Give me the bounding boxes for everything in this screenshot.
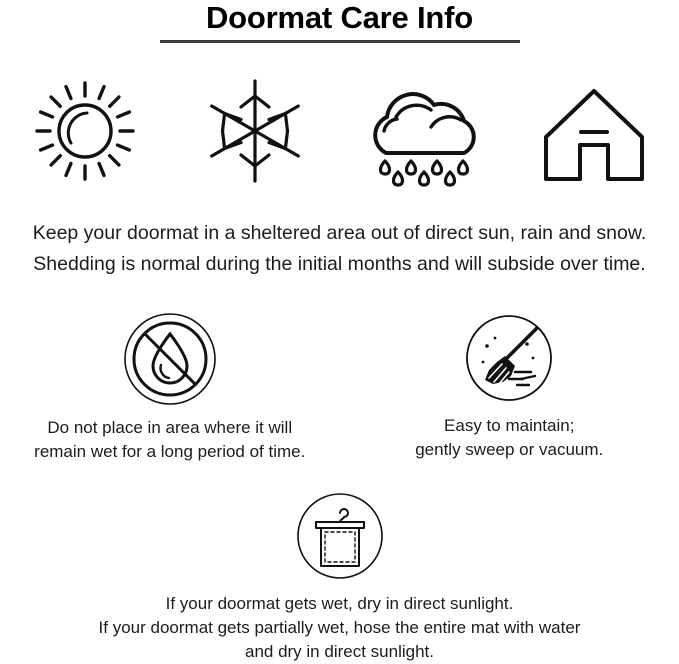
weather-icon-row	[0, 72, 679, 190]
no-water-icon	[123, 312, 217, 406]
weather-cell-rain	[349, 72, 499, 190]
tips-row: Do not place in area where it will remai…	[0, 312, 679, 462]
weather-cell-sun	[10, 72, 160, 190]
tip-sweep-line-1: Easy to maintain;	[415, 414, 603, 438]
rain-cloud-icon	[360, 75, 488, 187]
tip-no-water-line-1: Do not place in area where it will	[34, 416, 305, 440]
bottom-tip-caption: If your doormat gets wet, dry in direct …	[99, 592, 581, 664]
page-title: Doormat Care Info	[0, 0, 679, 35]
weather-cell-house	[519, 72, 669, 190]
intro-line-1: Keep your doormat in a sheltered area ou…	[0, 218, 679, 249]
no-water-badge	[123, 312, 217, 406]
page-title-block: Doormat Care Info	[0, 0, 679, 43]
tip-no-water-caption: Do not place in area where it will remai…	[34, 416, 305, 464]
snowflake-icon	[203, 76, 307, 186]
tip-sweep: Easy to maintain; gently sweep or vacuum…	[340, 312, 679, 462]
bottom-tip-line-1: If your doormat gets wet, dry in direct …	[99, 592, 581, 616]
hanging-mat-icon	[296, 492, 384, 580]
tip-no-water: Do not place in area where it will remai…	[0, 312, 340, 462]
bottom-tip: If your doormat gets wet, dry in direct …	[0, 488, 679, 664]
sun-icon	[31, 77, 139, 185]
house-icon	[536, 77, 652, 185]
tip-sweep-line-2: gently sweep or vacuum.	[415, 438, 603, 462]
bottom-tip-line-2: If your doormat gets partially wet, hose…	[99, 616, 581, 640]
intro-paragraph: Keep your doormat in a sheltered area ou…	[0, 218, 679, 280]
title-underline-rule	[160, 40, 520, 43]
tip-no-water-line-2: remain wet for a long period of time.	[34, 440, 305, 464]
tip-sweep-caption: Easy to maintain; gently sweep or vacuum…	[415, 414, 603, 462]
broom-badge	[465, 312, 553, 404]
hanging-mat-badge	[296, 488, 384, 584]
weather-cell-snow	[180, 72, 330, 190]
broom-icon	[465, 314, 553, 402]
bottom-tip-line-3: and dry in direct sunlight.	[99, 640, 581, 664]
intro-line-2: Shedding is normal during the initial mo…	[0, 249, 679, 280]
